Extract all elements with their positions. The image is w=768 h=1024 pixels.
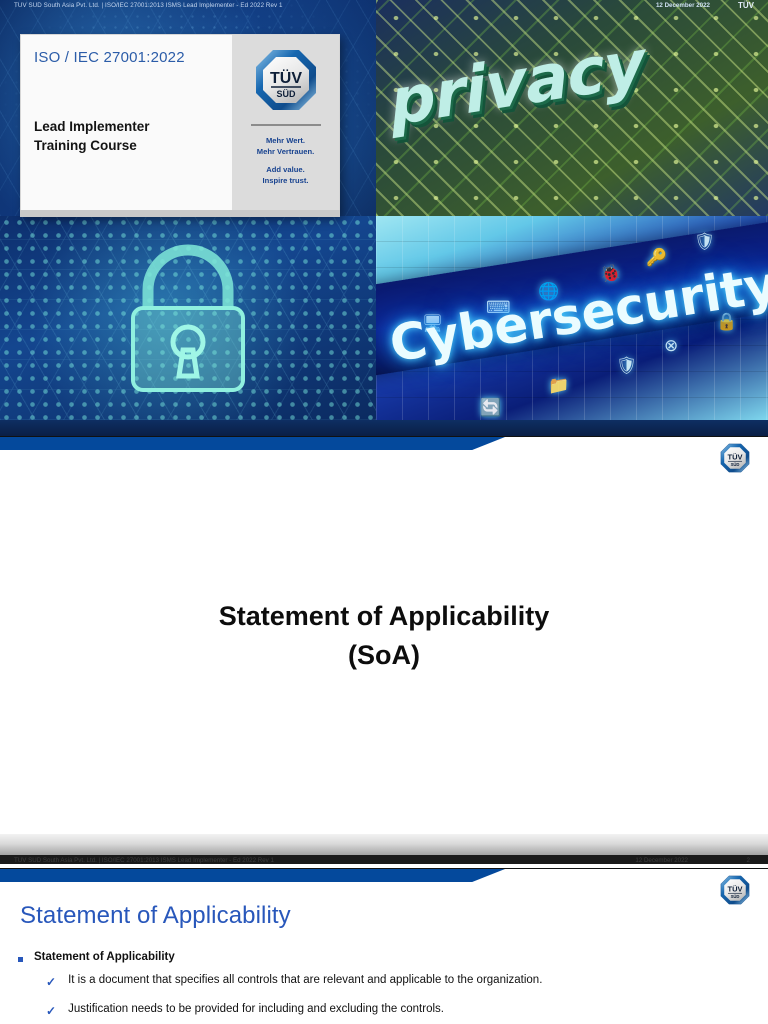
bullet-level1: Statement of Applicability: [18, 951, 738, 963]
privacy-circuit-image: privacy: [376, 0, 768, 216]
slide-2-footer-text: TUV SUD South Asia Pvt. Ltd. | ISO/IEC 2…: [14, 857, 274, 864]
slide-2-page-number: 2: [747, 857, 750, 864]
tagline-german: Mehr Wert. Mehr Vertrauen.: [257, 135, 314, 157]
sync-icon: 🔄: [480, 398, 501, 418]
bullet-level2-label: It is a document that specifies all cont…: [68, 974, 542, 986]
padlock-icon: [103, 238, 273, 398]
slide-3-content-slide: TÜV SÜD Statement of Applicability State…: [0, 868, 768, 1024]
slide-2-footer-bar: [0, 834, 768, 856]
svg-text:SÜD: SÜD: [731, 462, 740, 467]
tagline-de-line1: Mehr Wert.: [257, 135, 314, 146]
tuv-sud-logo: TÜV SÜD: [720, 875, 750, 905]
check-icon: ✓: [46, 1005, 56, 1017]
check-icon: ✓: [46, 976, 56, 988]
title-card-shadow-bar: [20, 210, 340, 217]
title-card-logo-panel: TÜV SÜD Mehr Wert. Mehr Vertrauen. Add v…: [232, 35, 339, 215]
key-icon: 🔑: [646, 248, 667, 268]
svg-text:TÜV: TÜV: [728, 884, 743, 893]
tagline-en-line1: Add value.: [263, 164, 309, 175]
slide-1-footer-date: 12 December 2022: [656, 2, 710, 9]
title-card: ISO / IEC 27001:2022 Lead Implementer Tr…: [20, 34, 340, 216]
bullet-level2: ✓ It is a document that specifies all co…: [46, 974, 738, 988]
slide-2-title-line2: (SoA): [0, 636, 768, 675]
bullet-level2: ✓ Justification needs to be provided for…: [46, 1003, 738, 1017]
tagline-english: Add value. Inspire trust.: [263, 164, 309, 186]
logo-divider: [251, 124, 321, 126]
shield-icon: 🛡: [694, 232, 716, 252]
bug-circle-icon: ⊗: [664, 336, 678, 356]
slide-1-footer-logo: TÜV: [738, 1, 754, 10]
course-title: Lead Implementer Training Course: [34, 118, 150, 155]
standard-label: ISO / IEC 27001:2022: [34, 49, 222, 66]
svg-text:SÜD: SÜD: [276, 89, 296, 99]
slide-2-footer-date: 12 December 2022: [635, 857, 688, 864]
course-title-line1: Lead Implementer: [34, 118, 150, 137]
slide-2-title: Statement of Applicability (SoA): [0, 597, 768, 675]
tuv-sud-logo: TÜV SÜD: [254, 48, 318, 112]
bullet-level2-label: Justification needs to be provided for i…: [68, 1003, 444, 1015]
tuv-sud-logo: TÜV SÜD: [720, 443, 750, 473]
slide-1-title-slide: privacy 🖥 ⌨ 🌐 🐞 🔑: [0, 0, 768, 436]
slide-3-heading: Statement of Applicability: [20, 902, 291, 930]
svg-text:TÜV: TÜV: [270, 68, 302, 87]
tagline-de-line2: Mehr Vertrauen.: [257, 146, 314, 157]
bullet-level1-label: Statement of Applicability: [34, 951, 175, 963]
slide-2-title-line1: Statement of Applicability: [0, 597, 768, 636]
slide-3-top-banner: [0, 869, 505, 882]
slide-deck-page: privacy 🖥 ⌨ 🌐 🐞 🔑: [0, 0, 768, 1024]
title-card-left: ISO / IEC 27001:2022 Lead Implementer Tr…: [21, 35, 232, 215]
tagline-en-line2: Inspire trust.: [263, 175, 309, 186]
cybersecurity-image: 🖥 ⌨ 🌐 🐞 🔑 🛡 🔒 ⊗ 🛡 📁 🔄 Cybersecurity: [376, 216, 768, 420]
course-title-line2: Training Course: [34, 137, 150, 156]
slide-3-bullet-list: Statement of Applicability ✓ It is a doc…: [18, 951, 738, 1024]
lock-shield-icon: 🛡: [616, 356, 638, 376]
slide-1-footer-text: TUV SUD South Asia Pvt. Ltd. | ISO/IEC 2…: [14, 2, 283, 9]
slide-1-footer: [0, 420, 768, 436]
folder-icon: 📁: [548, 376, 569, 396]
svg-text:SÜD: SÜD: [731, 894, 740, 899]
slide-2-logo-wrap: TÜV SÜD: [720, 443, 750, 478]
svg-text:TÜV: TÜV: [728, 452, 743, 461]
padlock-image: [0, 216, 376, 420]
slide-2-section-slide: TÜV SÜD Statement of Applicability (SoA)…: [0, 436, 768, 868]
slide-2-top-banner: [0, 437, 505, 450]
slide-3-logo-wrap: TÜV SÜD: [720, 875, 750, 910]
square-bullet-icon: [18, 957, 23, 962]
